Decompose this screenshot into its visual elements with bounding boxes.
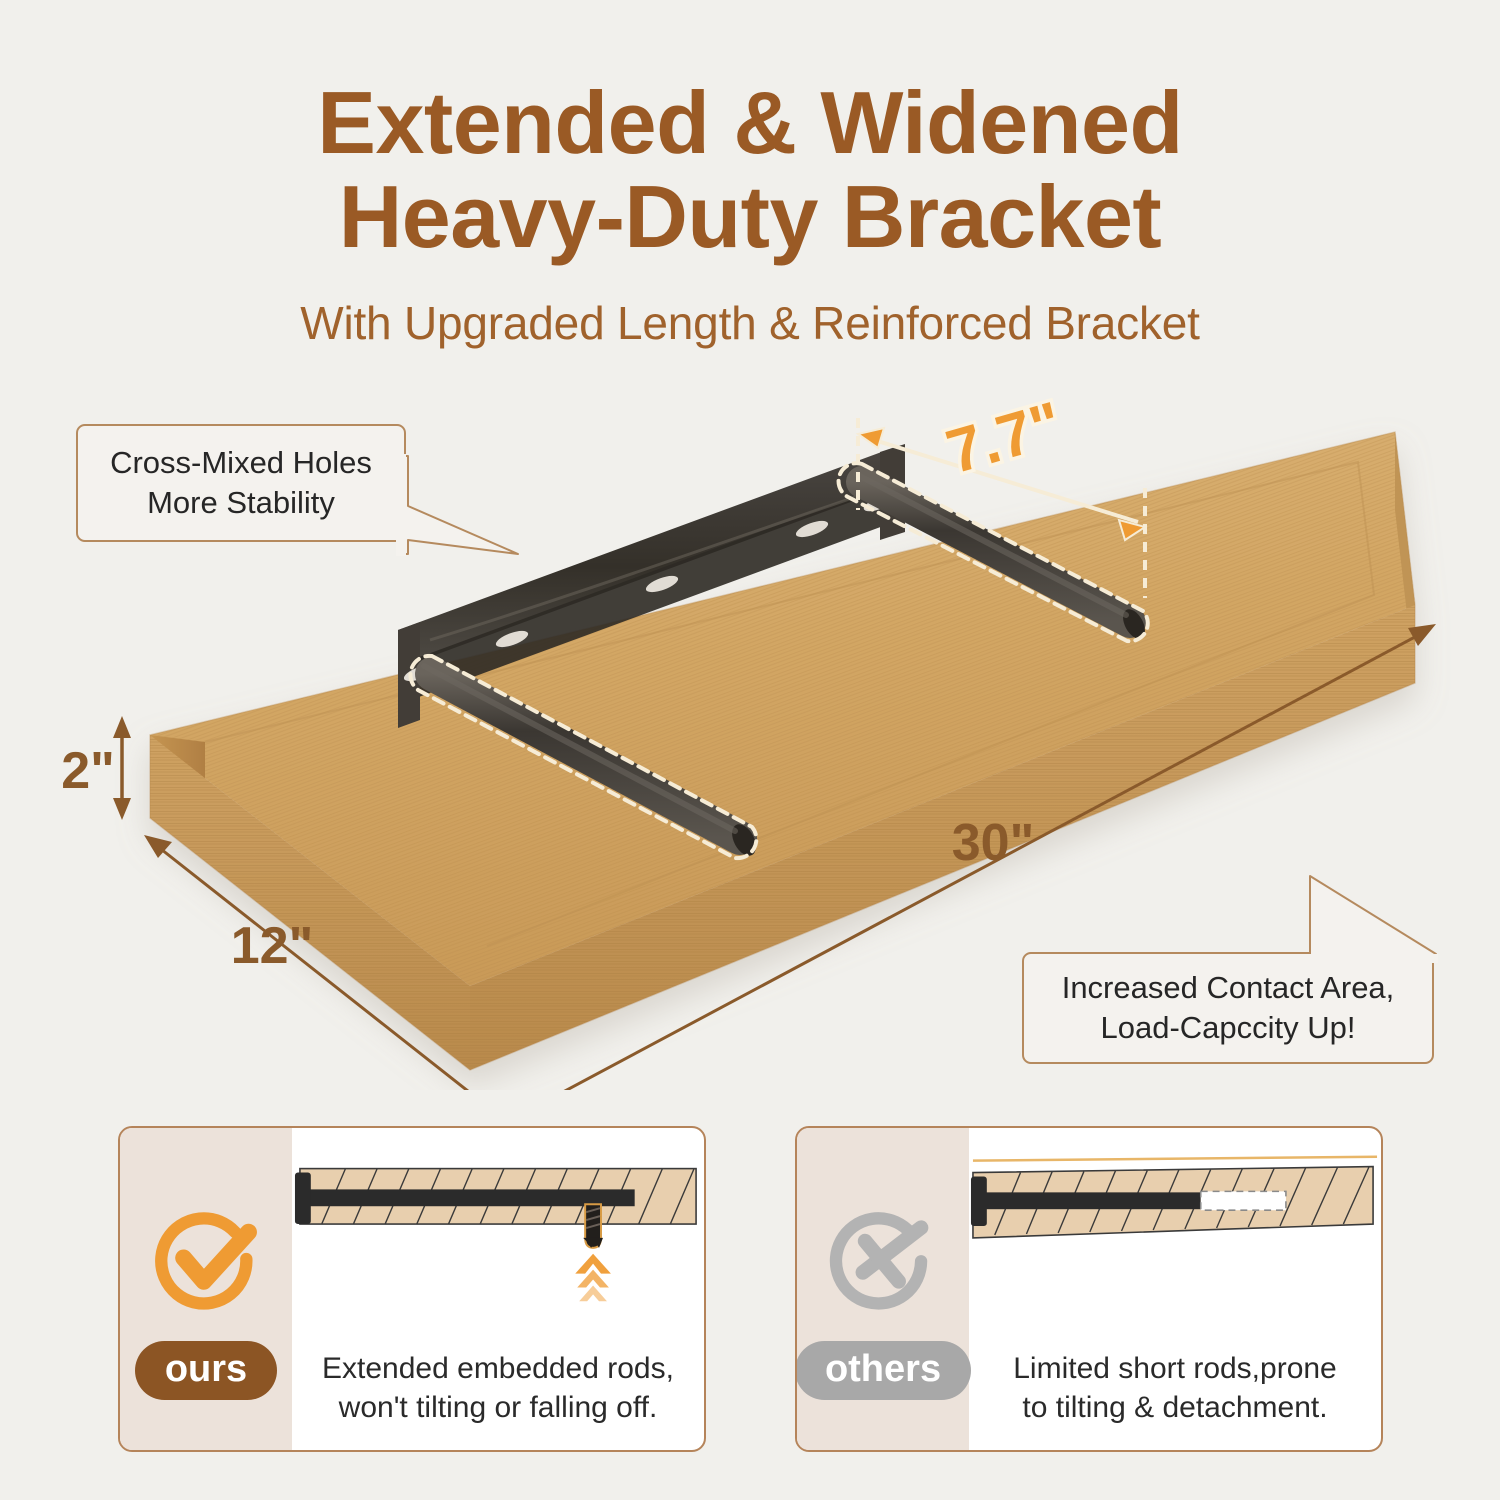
panel-others-body: Limited short rods,prone to tilting & de… <box>969 1128 1381 1450</box>
callout-contact-line1: Increased Contact Area, <box>1062 968 1395 1008</box>
panel-others: others <box>795 1126 1383 1452</box>
ours-screw <box>583 1204 603 1248</box>
comparison-section: ours <box>0 1126 1500 1456</box>
ours-diagram <box>292 1142 704 1318</box>
others-wall-plate <box>971 1177 987 1227</box>
others-caption-line1: Limited short rods,prone <box>977 1349 1373 1389</box>
ours-caption-line2: won't tilting or falling off. <box>300 1388 696 1428</box>
ours-caption: Extended embedded rods, won't tilting or… <box>300 1349 696 1428</box>
callout-contact-line2: Load-Capccity Up! <box>1062 1008 1395 1048</box>
ours-caption-line1: Extended embedded rods, <box>300 1349 696 1389</box>
x-circle-icon <box>827 1203 939 1315</box>
callout-holes-line1: Cross-Mixed Holes <box>110 443 372 483</box>
length-label: 30" <box>952 814 1035 872</box>
thickness-label: 2" <box>61 742 115 800</box>
check-circle-icon <box>150 1203 262 1315</box>
thickness-dimension: 2" <box>61 716 131 820</box>
panel-ours-body: Extended embedded rods, won't tilting or… <box>292 1128 704 1450</box>
others-caption: Limited short rods,prone to tilting & de… <box>977 1349 1373 1428</box>
ours-wall-plate <box>295 1173 311 1225</box>
panel-ours: ours <box>118 1126 706 1452</box>
title-line-2: Heavy-Duty Bracket <box>0 172 1500 262</box>
depth-label: 12" <box>231 917 314 975</box>
rod-dim-arrow-left <box>858 428 884 448</box>
others-empty-cavity <box>1201 1191 1286 1210</box>
others-level-line <box>973 1157 1377 1161</box>
others-diagram <box>969 1142 1381 1318</box>
others-caption-line2: to tilting & detachment. <box>977 1388 1373 1428</box>
callout-cross-mixed-holes: Cross-Mixed Holes More Stability <box>76 424 406 542</box>
page-subtitle: With Upgraded Length & Reinforced Bracke… <box>0 296 1500 350</box>
badge-ours: ours <box>135 1341 277 1400</box>
thickness-arrow-down <box>113 798 131 820</box>
rod-length-label: 7.7" <box>939 390 1069 487</box>
callout-increased-contact-area: Increased Contact Area, Load-Capccity Up… <box>1022 952 1434 1064</box>
infographic-root: Extended & Widened Heavy-Duty Bracket Wi… <box>0 0 1500 1500</box>
page-title: Extended & Widened Heavy-Duty Bracket <box>0 78 1500 262</box>
panel-others-side: others <box>797 1128 969 1450</box>
title-line-1: Extended & Widened <box>317 73 1182 172</box>
ours-force-arrows <box>575 1254 611 1302</box>
thickness-arrow-up <box>113 716 131 738</box>
others-rod <box>983 1192 1201 1209</box>
callout-holes-line2: More Stability <box>110 483 372 523</box>
panel-ours-side: ours <box>120 1128 292 1450</box>
badge-others: others <box>795 1341 971 1400</box>
